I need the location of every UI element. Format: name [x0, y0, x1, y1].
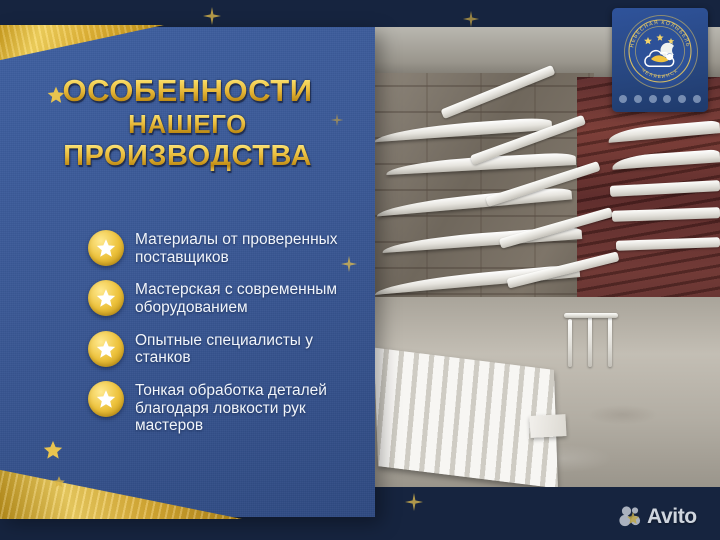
crib-frame [608, 317, 612, 367]
avito-logo-icon [619, 505, 645, 529]
avito-brand-label: Avito [647, 505, 697, 529]
star-badge-icon [88, 280, 124, 316]
feature-item: Опытные специалисты у станков [88, 331, 368, 367]
crib-frame [588, 315, 592, 367]
feature-label: Тонкая обработка деталей благодаря ловко… [135, 381, 368, 435]
avito-watermark: Avito [619, 505, 697, 529]
star-badge-icon [88, 331, 124, 367]
feature-label: Материалы от проверенных поставщиков [135, 230, 368, 266]
star-decoration-icon [42, 439, 64, 461]
feature-item: Тонкая обработка деталей благодаря ловко… [88, 381, 368, 435]
star-decoration-icon [52, 475, 66, 489]
headline-line-3: ПРОИЗВОДСТВА [0, 141, 375, 172]
headline-line-1: ОСОБЕННОСТИ [0, 75, 375, 108]
gold-corner-bottom-left-texture [0, 469, 242, 519]
feature-item: Материалы от проверенных поставщиков [88, 230, 368, 266]
promo-image-root: ОСОБЕННОСТИ НАШЕГО ПРОИЗВОДСТВА Материал… [0, 0, 720, 540]
logo-dots [619, 95, 701, 103]
feature-label: Опытные специалисты у станков [135, 331, 368, 367]
svg-text:ЧЕЛЯБИНСК: ЧЕЛЯБИНСК [641, 68, 679, 79]
info-card: ОСОБЕННОСТИ НАШЕГО ПРОИЗВОДСТВА Материал… [0, 27, 375, 517]
headline-line-2: НАШЕГО [0, 111, 375, 139]
feature-label: Мастерская с современным оборудованием [135, 280, 368, 316]
crib-frame [568, 319, 572, 367]
feature-list: Материалы от проверенных поставщиков Мас… [88, 230, 368, 449]
crib-block [529, 414, 566, 438]
company-logo-badge[interactable]: НЕБЕСНАЯ КОЛЫБЕЛЬ ЧЕЛЯБИНСК [612, 8, 708, 112]
star-badge-icon [88, 230, 124, 266]
headline: ОСОБЕННОСТИ НАШЕГО ПРОИЗВОДСТВА [0, 75, 375, 172]
star-badge-icon [88, 381, 124, 417]
feature-item: Мастерская с современным оборудованием [88, 280, 368, 316]
sleeping-baby-on-cloud-icon: НЕБЕСНАЯ КОЛЫБЕЛЬ ЧЕЛЯБИНСК [624, 15, 696, 87]
crib-frame [564, 313, 618, 318]
gold-corner-top-left-texture [0, 25, 164, 61]
